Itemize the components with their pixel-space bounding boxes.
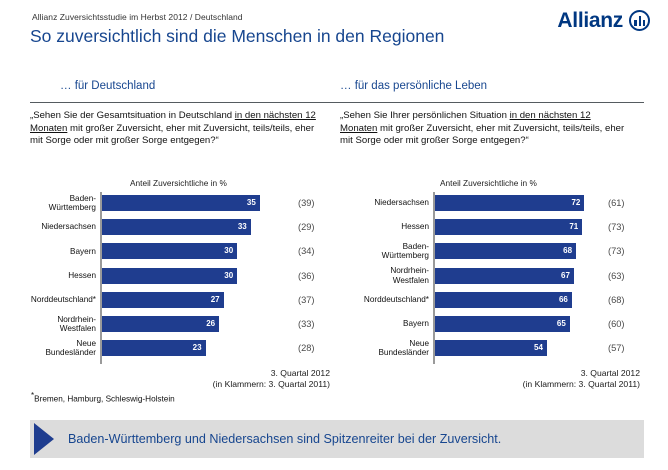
chart-row: Niedersachsen72(61) — [340, 192, 650, 214]
chart-row-label: NeueBundesländer — [340, 337, 429, 359]
chart-bar: 72 — [435, 195, 585, 211]
chart-row-label-line1: Nordrhein- — [57, 315, 96, 324]
chart-row-label: Niedersachsen — [340, 192, 429, 214]
section-heading-persoenliches-leben: … für das persönliche Leben — [340, 80, 487, 92]
chart-row-label-line1: Neue — [76, 339, 96, 348]
chart-row-label-line1: Niedersachsen — [41, 222, 96, 231]
chart-row: Norddeutschland*27(37) — [30, 289, 340, 311]
chart-previous-value: (68) — [608, 295, 625, 305]
chart-bar: 33 — [102, 219, 251, 235]
chart-row-label-line2: Bundesländer — [45, 348, 96, 357]
chart-row-label: Norddeutschland* — [340, 289, 429, 311]
chart-row-label-line1: Hessen — [68, 271, 96, 280]
chart-row: NeueBundesländer54(57) — [340, 337, 650, 359]
chart-bar-value: 68 — [563, 247, 572, 255]
chart-bar: 23 — [102, 340, 206, 356]
chart-row-label-line1: Bayern — [70, 247, 96, 256]
chart-bar-value: 30 — [224, 272, 233, 280]
panel-persoenliches-leben: „Sehen Sie Ihrer persönlichen Situation … — [340, 110, 650, 148]
chart-note-line2: (in Klammern: 3. Quartal 2011) — [30, 379, 330, 390]
chart-note-line2: (in Klammern: 3. Quartal 2011) — [340, 379, 640, 390]
chart-row-label: Bayern — [30, 240, 96, 262]
chart-bar-value: 54 — [534, 344, 543, 352]
chart-bar: 67 — [435, 268, 574, 284]
chart-row-label-line2: Württemberg — [382, 251, 429, 260]
chart-note-left: 3. Quartal 2012 (in Klammern: 3. Quartal… — [30, 368, 330, 390]
chart-previous-value: (28) — [298, 343, 315, 353]
chart-bar: 27 — [102, 292, 224, 308]
summary-banner-text: Baden-Württemberg und Niedersachsen sind… — [68, 420, 501, 458]
chart-previous-value: (61) — [608, 198, 625, 208]
axis-caption-right: Anteil Zuversichtliche in % — [440, 178, 537, 188]
arrow-right-icon — [34, 423, 54, 455]
chart-previous-value: (37) — [298, 295, 315, 305]
chart-row: Baden-Württemberg35(39) — [30, 192, 340, 214]
bar-chart-persoenliches-leben: Niedersachsen72(61)Hessen71(73)Baden-Wür… — [340, 192, 650, 372]
chart-row-label-line1: Baden- — [403, 242, 429, 251]
question-text-persoenlich: „Sehen Sie Ihrer persönlichen Situation … — [340, 110, 630, 148]
chart-row: Hessen71(73) — [340, 216, 650, 238]
chart-previous-value: (39) — [298, 198, 315, 208]
chart-bar-value: 26 — [206, 320, 215, 328]
chart-row-label-line1: Bayern — [403, 319, 429, 328]
chart-previous-value: (73) — [608, 246, 625, 256]
chart-previous-value: (36) — [298, 271, 315, 281]
chart-row-label-line1: Neue — [409, 339, 429, 348]
chart-row-label-line1: Nordrhein- — [390, 266, 429, 275]
bar-chart-deutschland: Baden-Württemberg35(39)Niedersachsen33(2… — [30, 192, 340, 372]
chart-note-line1: 3. Quartal 2012 — [340, 368, 640, 379]
chart-bar: 71 — [435, 219, 583, 235]
page-header: Allianz Zuversichtsstudie im Herbst 2012… — [0, 0, 668, 70]
axis-caption-left: Anteil Zuversichtliche in % — [130, 178, 227, 188]
chart-row: Bayern65(60) — [340, 313, 650, 335]
chart-previous-value: (57) — [608, 343, 625, 353]
study-eyebrow: Allianz Zuversichtsstudie im Herbst 2012… — [32, 12, 243, 22]
question-part-1: „Sehen Sie Ihrer persönlichen Situation — [340, 110, 510, 121]
chart-row-label-line1: Baden- — [70, 194, 96, 203]
chart-previous-value: (63) — [608, 271, 625, 281]
chart-bar: 65 — [435, 316, 570, 332]
chart-row-label-line2: Westfalen — [60, 324, 96, 333]
chart-bar: 66 — [435, 292, 572, 308]
chart-row-label-line1: Norddeutschland* — [364, 295, 429, 304]
chart-note-right: 3. Quartal 2012 (in Klammern: 3. Quartal… — [340, 368, 640, 390]
chart-row-label: NeueBundesländer — [30, 337, 96, 359]
panel-deutschland: „Sehen Sie der Gesamtsituation in Deutsc… — [30, 110, 340, 148]
chart-bar-value: 23 — [193, 344, 202, 352]
chart-bar-value: 66 — [559, 296, 568, 304]
chart-row-label-line2: Westfalen — [393, 276, 429, 285]
chart-previous-value: (33) — [298, 319, 315, 329]
chart-previous-value: (34) — [298, 246, 315, 256]
chart-previous-value: (73) — [608, 222, 625, 232]
chart-row: NeueBundesländer23(28) — [30, 337, 340, 359]
section-heading-deutschland: … für Deutschland — [60, 80, 155, 92]
chart-bar-value: 30 — [224, 247, 233, 255]
question-part-2: mit großer Zuversicht, eher mit Zuversic… — [30, 123, 314, 147]
summary-banner: Baden-Württemberg und Niedersachsen sind… — [30, 420, 644, 458]
chart-row-label: Niedersachsen — [30, 216, 96, 238]
chart-bar-value: 35 — [247, 199, 256, 207]
chart-row-label: Hessen — [30, 265, 96, 287]
chart-row: Baden-Württemberg68(73) — [340, 240, 650, 262]
chart-bar: 30 — [102, 268, 238, 284]
chart-row-label: Norddeutschland* — [30, 289, 96, 311]
chart-bar-value: 72 — [571, 199, 580, 207]
question-text-deutschland: „Sehen Sie der Gesamtsituation in Deutsc… — [30, 110, 320, 148]
heading-divider — [30, 102, 644, 103]
chart-bar: 35 — [102, 195, 260, 211]
chart-row: Nordrhein-Westfalen67(63) — [340, 265, 650, 287]
footnote: *Bremen, Hamburg, Schleswig-Holstein — [31, 391, 175, 404]
chart-bar-value: 33 — [238, 223, 247, 231]
chart-row-label: Bayern — [340, 313, 429, 335]
chart-row-label-line1: Niedersachsen — [374, 198, 429, 207]
chart-row-label: Baden-Württemberg — [30, 192, 96, 214]
chart-bar-value: 67 — [561, 272, 570, 280]
allianz-logo: Allianz — [557, 10, 650, 31]
chart-row-label-line1: Hessen — [401, 222, 429, 231]
chart-bar-value: 71 — [569, 223, 578, 231]
chart-bar: 68 — [435, 243, 576, 259]
chart-row-label: Nordrhein-Westfalen — [30, 313, 96, 335]
question-part-1: „Sehen Sie der Gesamtsituation in Deutsc… — [30, 110, 235, 121]
question-part-2: mit großer Zuversicht, eher mit Zuversic… — [340, 123, 624, 147]
chart-bar-value: 65 — [557, 320, 566, 328]
chart-row-label: Baden-Württemberg — [340, 240, 429, 262]
chart-row: Nordrhein-Westfalen26(33) — [30, 313, 340, 335]
chart-row-label-line2: Württemberg — [49, 203, 96, 212]
chart-bar: 26 — [102, 316, 220, 332]
allianz-circle-bars-icon — [629, 10, 650, 31]
chart-row: Bayern30(34) — [30, 240, 340, 262]
footnote-text: Bremen, Hamburg, Schleswig-Holstein — [34, 395, 175, 404]
chart-note-line1: 3. Quartal 2012 — [30, 368, 330, 379]
page-title: So zuversichtlich sind die Menschen in d… — [30, 26, 444, 47]
chart-row: Hessen30(36) — [30, 265, 340, 287]
brand-wordmark: Allianz — [557, 10, 623, 31]
chart-previous-value: (29) — [298, 222, 315, 232]
chart-bar: 30 — [102, 243, 238, 259]
chart-bar-value: 27 — [211, 296, 220, 304]
chart-row-label-line1: Norddeutschland* — [31, 295, 96, 304]
chart-row-label: Hessen — [340, 216, 429, 238]
chart-row: Norddeutschland*66(68) — [340, 289, 650, 311]
chart-row-label-line2: Bundesländer — [378, 348, 429, 357]
chart-row-label: Nordrhein-Westfalen — [340, 265, 429, 287]
chart-previous-value: (60) — [608, 319, 625, 329]
chart-row: Niedersachsen33(29) — [30, 216, 340, 238]
chart-bar: 54 — [435, 340, 547, 356]
